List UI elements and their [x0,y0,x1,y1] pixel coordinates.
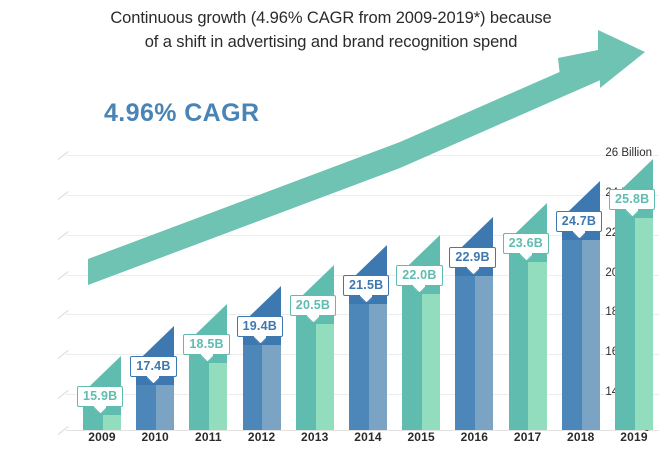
x-axis-tick-label: 2009 [74,430,130,444]
bar-segment-light [316,324,334,430]
bar[interactable] [402,294,440,430]
bar-segment-light [635,218,653,430]
callout-pointer-icon [467,266,479,274]
bar[interactable] [455,276,493,430]
callout-pointer-icon [201,353,213,361]
bar-value-label: 17.4B [130,356,176,377]
bar-segment-dark [402,294,422,430]
bar-segment-dark [455,276,475,430]
x-axis-tick-label: 2015 [393,430,449,444]
bar-value-label: 15.9B [77,386,123,407]
bar-value-label: 19.4B [237,316,283,337]
callout-pointer-icon [626,208,638,216]
callout-pointer-icon [254,335,266,343]
bar[interactable] [509,262,547,430]
x-axis-tick-label: 2019 [606,430,662,444]
bar-group[interactable] [189,0,227,449]
bar-segment-dark [243,345,263,430]
bar-segment-light [262,345,280,430]
plot-area: 26 Billion24 Billion22 Billion20 Billion… [0,0,662,449]
bar-group[interactable] [455,0,493,449]
bar-segment-dark [615,218,635,430]
bar-value-label: 23.6B [503,233,549,254]
bar[interactable] [562,240,600,430]
bar-value-label: 21.5B [343,275,389,296]
bar-value-label: 18.5B [183,334,229,355]
x-axis-tick-label: 2012 [234,430,290,444]
x-axis-tick-label: 2016 [446,430,502,444]
bar[interactable] [83,415,121,430]
bar-segment-dark [509,262,529,430]
bar-segment-dark [189,363,209,430]
bar[interactable] [296,324,334,430]
bar-segment-light [528,262,546,430]
x-axis-tick-label: 2017 [500,430,556,444]
bar-segment-light [422,294,440,430]
bar-group[interactable] [296,0,334,449]
callout-pointer-icon [413,284,425,292]
x-axis-tick-label: 2011 [180,430,236,444]
bar-segment-dark [349,304,369,430]
callout-pointer-icon [307,314,319,322]
chart-root: Continuous growth (4.96% CAGR from 2009-… [0,0,662,449]
callout-pointer-icon [520,252,532,260]
bar-segment-light [156,385,174,430]
bar[interactable] [243,345,281,430]
bar[interactable] [615,218,653,430]
bar-group[interactable] [615,0,653,449]
bar-group[interactable] [349,0,387,449]
x-axis-tick-label: 2018 [553,430,609,444]
bar-segment-dark [136,385,156,430]
callout-pointer-icon [147,375,159,383]
bar-segment-light [582,240,600,430]
bar-value-label: 20.5B [290,295,336,316]
bar-group[interactable] [243,0,281,449]
bar-value-label: 25.8B [609,189,655,210]
bar-segment-light [209,363,227,430]
bar-segment-light [103,415,121,430]
bar-segment-dark [296,324,316,430]
x-axis-tick-label: 2013 [287,430,343,444]
bar-value-label: 24.7B [556,211,602,232]
bar-value-label: 22.0B [396,265,442,286]
bar[interactable] [189,363,227,430]
x-axis-tick-label: 2014 [340,430,396,444]
bar-segment-light [369,304,387,430]
bar-group[interactable] [83,0,121,449]
bar[interactable] [136,385,174,430]
callout-pointer-icon [94,405,106,413]
bar-group[interactable] [509,0,547,449]
bar[interactable] [349,304,387,430]
x-axis-tick-label: 2010 [127,430,183,444]
bar-segment-dark [83,415,103,430]
callout-pointer-icon [573,230,585,238]
callout-pointer-icon [360,294,372,302]
bar-segment-dark [562,240,582,430]
bar-group[interactable] [402,0,440,449]
bar-value-label: 22.9B [449,247,495,268]
bar-segment-light [475,276,493,430]
